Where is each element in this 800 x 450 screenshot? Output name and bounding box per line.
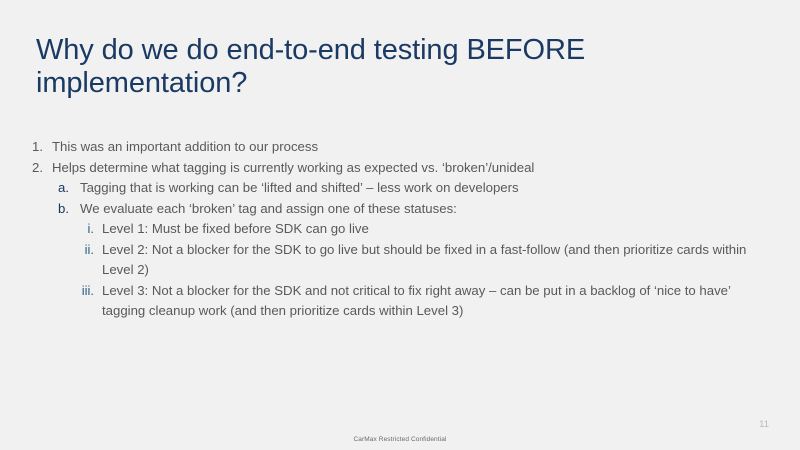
list-item: i. Level 1: Must be fixed before SDK can…: [32, 219, 758, 240]
list-item-text: Level 3: Not a blocker for the SDK and n…: [102, 281, 758, 322]
list-item-text: This was an important addition to our pr…: [52, 137, 758, 158]
list-marker: iii.: [70, 281, 102, 302]
page-number: 11: [759, 419, 769, 430]
list-item-text: Level 2: Not a blocker for the SDK to go…: [102, 240, 758, 281]
slide-canvas: Why do we do end-to-end testing BEFORE i…: [0, 0, 800, 450]
list-item: a. Tagging that is working can be ‘lifte…: [32, 178, 758, 199]
list-item: b. We evaluate each ‘broken’ tag and ass…: [32, 199, 758, 220]
list-marker: a.: [58, 178, 80, 199]
list-item-text: Helps determine what tagging is currentl…: [52, 158, 758, 179]
list-marker: i.: [70, 219, 102, 240]
list-marker: 1.: [32, 137, 52, 158]
list-item-text: Tagging that is working can be ‘lifted a…: [80, 178, 758, 199]
confidentiality-notice: CarMax Restricted Confidential: [0, 436, 800, 443]
list-item: 1. This was an important addition to our…: [32, 137, 758, 158]
list-item-text: Level 1: Must be fixed before SDK can go…: [102, 219, 758, 240]
list-item: 2. Helps determine what tagging is curre…: [32, 158, 758, 179]
list-marker: ii.: [70, 240, 102, 261]
list-marker: 2.: [32, 158, 52, 179]
page-title: Why do we do end-to-end testing BEFORE i…: [36, 34, 636, 100]
list-item: ii. Level 2: Not a blocker for the SDK t…: [32, 240, 758, 281]
list-marker: b.: [58, 199, 80, 220]
outline-body: 1. This was an important addition to our…: [32, 137, 758, 322]
list-item-text: We evaluate each ‘broken’ tag and assign…: [80, 199, 758, 220]
list-item: iii. Level 3: Not a blocker for the SDK …: [32, 281, 758, 322]
